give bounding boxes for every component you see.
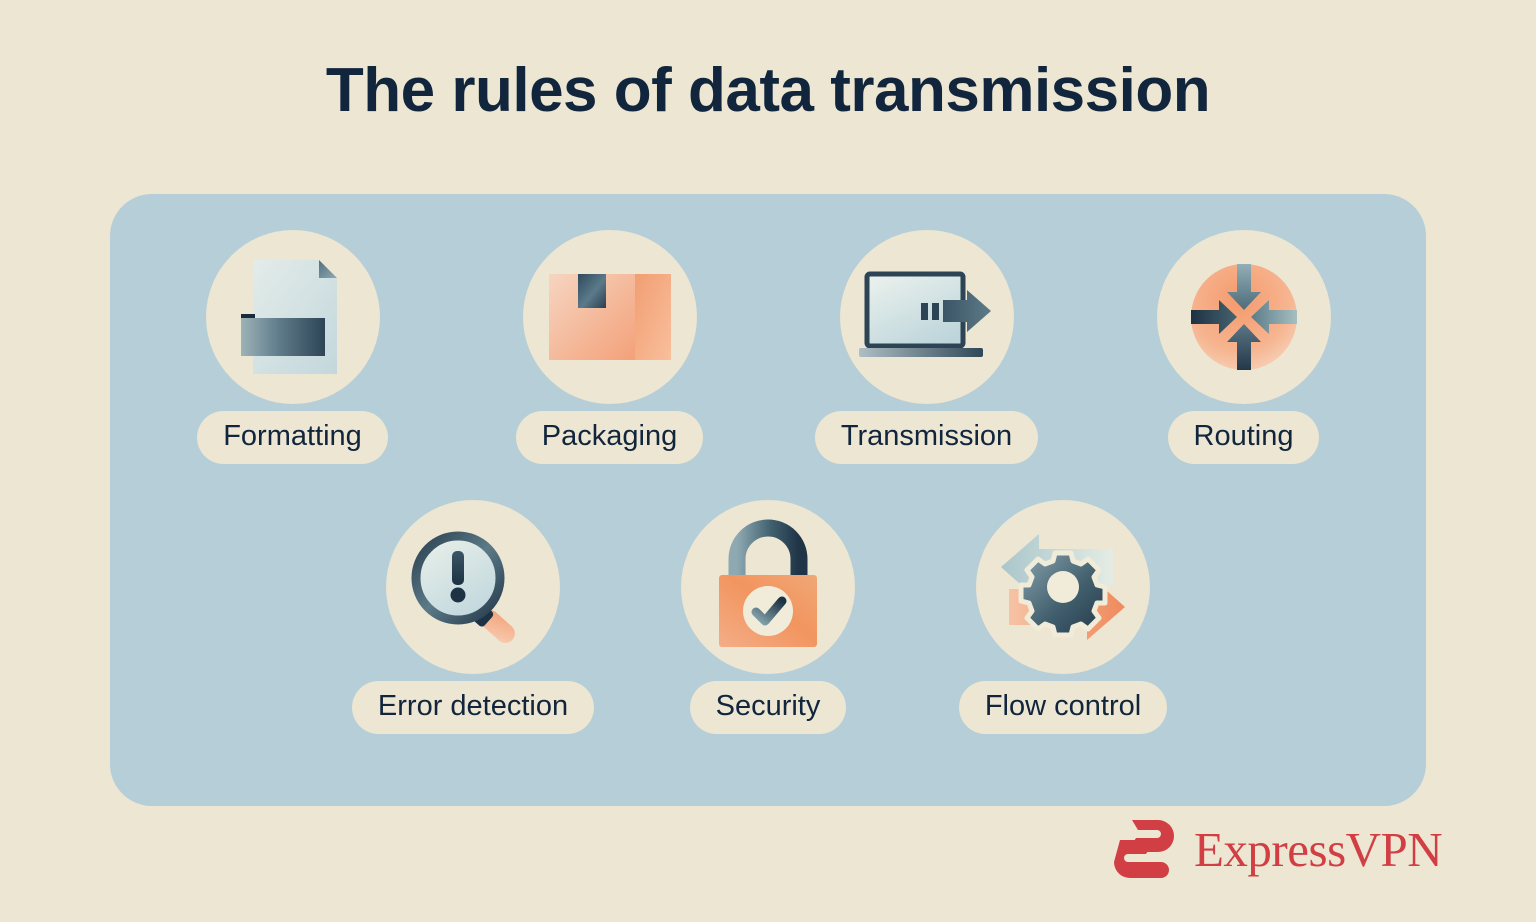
document-format-icon xyxy=(233,252,353,382)
routing-icon-circle xyxy=(1157,230,1331,404)
node-formatting[interactable]: Formatting xyxy=(200,230,385,464)
node-row-2: Error detection xyxy=(110,500,1426,734)
packaging-icon-circle xyxy=(523,230,697,404)
logo-text: ExpressVPN xyxy=(1194,821,1442,878)
node-transmission[interactable]: Transmission xyxy=(834,230,1019,464)
padlock-check-icon xyxy=(706,519,830,655)
transmission-icon-circle xyxy=(840,230,1014,404)
content-panel: Formatting xyxy=(110,194,1426,806)
label-formatting: Formatting xyxy=(197,411,388,464)
laptop-send-arrow-icon xyxy=(857,262,997,372)
node-flow-control[interactable]: Flow control xyxy=(971,500,1156,734)
node-packaging[interactable]: Packaging xyxy=(517,230,702,464)
flow-control-icon-circle xyxy=(976,500,1150,674)
label-packaging: Packaging xyxy=(516,411,703,464)
label-transmission: Transmission xyxy=(815,411,1038,464)
arrows-gear-icon xyxy=(995,525,1131,649)
expressvpn-e-mark-icon xyxy=(1108,818,1180,880)
four-direction-arrows-icon xyxy=(1177,250,1311,384)
expressvpn-logo[interactable]: ExpressVPN xyxy=(1108,818,1442,880)
error-detection-icon-circle xyxy=(386,500,560,674)
node-row-1: Formatting xyxy=(110,230,1426,464)
label-error-detection: Error detection xyxy=(352,681,594,734)
page-title: The rules of data transmission xyxy=(0,58,1536,123)
magnifier-alert-icon xyxy=(403,522,543,652)
node-routing[interactable]: Routing xyxy=(1151,230,1336,464)
node-security[interactable]: Security xyxy=(676,500,861,734)
security-icon-circle xyxy=(681,500,855,674)
label-routing: Routing xyxy=(1168,411,1320,464)
label-security: Security xyxy=(690,681,847,734)
node-error-detection[interactable]: Error detection xyxy=(381,500,566,734)
package-box-icon xyxy=(545,262,675,372)
label-flow-control: Flow control xyxy=(959,681,1167,734)
formatting-icon-circle xyxy=(206,230,380,404)
